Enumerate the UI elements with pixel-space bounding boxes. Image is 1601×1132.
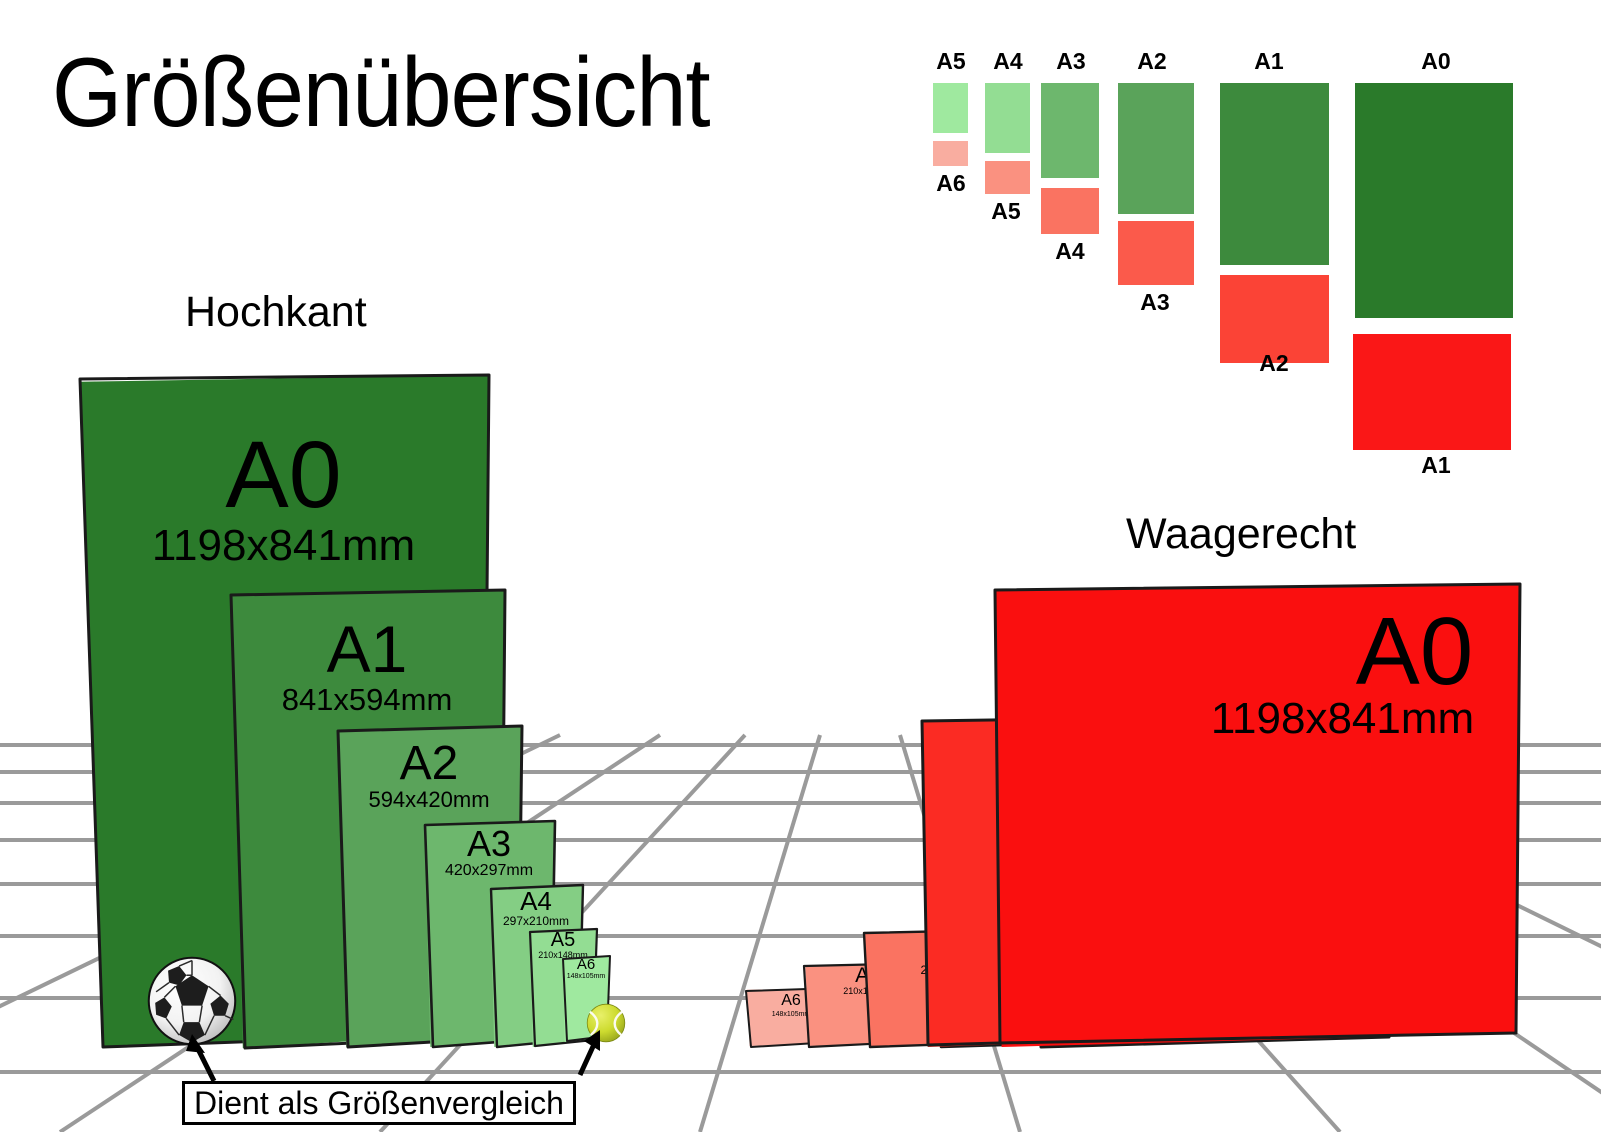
mini-landscape-label-a2: A2 [1251, 350, 1297, 377]
landscape-sheet-a0-dim: 1198x841mm [1078, 697, 1601, 741]
portrait-sheet-a1-dim: 841x594mm [229, 684, 505, 715]
portrait-sheet-a0-dim: 1198x841mm [78, 524, 489, 568]
portrait-sheet-a6-dim: 148x105mm [562, 973, 610, 980]
mini-landscape-box-a3 [1118, 221, 1194, 285]
infographic-canvas: Größenübersicht Hochkant Waagerecht A5 A… [0, 0, 1601, 1132]
mini-portrait-label-a3: A3 [1050, 48, 1092, 75]
mini-landscape-label-a6: A6 [930, 170, 972, 197]
mini-landscape-label-a1: A1 [1413, 452, 1459, 479]
mini-landscape-box-a4 [1041, 188, 1099, 234]
portrait-sheet-a6-name: A6 [562, 957, 610, 972]
soccer-ball [146, 955, 238, 1047]
portrait-sheet-a2-name: A2 [336, 740, 522, 788]
portrait-sheet-a1-name: A1 [229, 616, 505, 682]
portrait-sheet-a4-name: A4 [489, 888, 583, 914]
portrait-sheet-a3-dim: 420x297mm [423, 863, 555, 879]
portrait-sheet-a5-name: A5 [529, 930, 597, 950]
mini-portrait-box-a4 [985, 83, 1030, 153]
landscape-section-label: Waagerecht [1126, 510, 1356, 559]
mini-landscape-label-a3: A3 [1132, 289, 1178, 316]
mini-portrait-label-a4: A4 [987, 48, 1029, 75]
mini-portrait-box-a3 [1041, 83, 1099, 178]
portrait-sheet-a0-name: A0 [78, 428, 489, 523]
mini-landscape-box-a6 [933, 141, 968, 166]
mini-portrait-box-a2 [1118, 83, 1194, 214]
tennis-ball [586, 1003, 626, 1043]
mini-portrait-box-a0 [1355, 83, 1513, 318]
mini-portrait-label-a0: A0 [1415, 48, 1457, 75]
caption-text: Dient als Größenvergleich [194, 1085, 564, 1122]
size-reference-caption: Dient als Größenvergleich [182, 1081, 576, 1125]
mini-landscape-box-a1 [1353, 334, 1511, 450]
mini-portrait-label-a1: A1 [1248, 48, 1290, 75]
mini-portrait-label-a2: A2 [1131, 48, 1173, 75]
mini-portrait-box-a5 [933, 83, 968, 133]
mini-landscape-label-a5: A5 [983, 198, 1029, 225]
portrait-sheet-a3-name: A3 [423, 826, 555, 862]
mini-portrait-label-a5: A5 [930, 48, 972, 75]
mini-landscape-label-a4: A4 [1047, 238, 1093, 265]
mini-portrait-box-a1 [1220, 83, 1329, 265]
portrait-sheet-a2-dim: 594x420mm [336, 789, 522, 811]
mini-landscape-box-a5 [985, 161, 1030, 194]
landscape-sheet-a0-name: A0 [1150, 604, 1601, 700]
portrait-sheet-a4-dim: 297x210mm [489, 915, 583, 927]
